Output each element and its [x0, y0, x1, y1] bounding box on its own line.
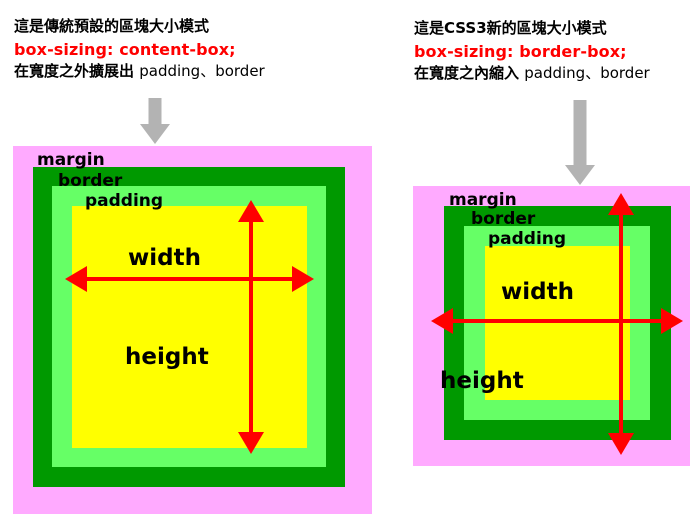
caption-left-line3-latin: padding、border: [139, 62, 264, 80]
padding-label: padding: [488, 231, 566, 248]
height-measure-arrow: [238, 200, 264, 454]
caption-right-line1: 這是CSS3新的區塊大小模式: [414, 18, 650, 40]
border-label: border: [471, 211, 535, 228]
width-measure-arrow: [431, 308, 683, 334]
flow-arrow-down-icon-left: [140, 98, 170, 144]
caption-content-box: 這是傳統預設的區塊大小模式 box-sizing: content-box; 在…: [14, 16, 265, 83]
height-arrowhead-down: [238, 432, 264, 454]
height-arrowhead-up: [608, 193, 634, 215]
height-arrow-line: [619, 207, 623, 441]
width-label: width: [501, 281, 574, 304]
width-arrow-line: [445, 319, 669, 323]
caption-right-code: box-sizing: border-box;: [414, 40, 650, 63]
width-arrowhead-right: [661, 308, 683, 334]
width-arrowhead-left: [431, 308, 453, 334]
width-label: width: [128, 247, 201, 270]
content-layer: [72, 206, 307, 448]
flow-arrow-head: [140, 124, 170, 144]
width-arrowhead-left: [65, 266, 87, 292]
caption-left-line3-cjk: 在寬度之外擴展出: [14, 62, 134, 80]
caption-left-line3: 在寬度之外擴展出 padding、border: [14, 61, 265, 83]
box-model-diagram-content-box: margin border padding width height: [13, 146, 372, 514]
margin-label: margin: [449, 192, 517, 209]
height-measure-arrow: [608, 193, 634, 455]
border-label: border: [58, 173, 122, 190]
height-arrow-line: [249, 214, 253, 440]
caption-left-code: box-sizing: content-box;: [14, 38, 265, 61]
flow-arrow-head: [565, 165, 595, 185]
caption-right-line3: 在寬度之內縮入 padding、border: [414, 63, 650, 85]
margin-label: margin: [37, 152, 105, 169]
padding-label: padding: [85, 193, 163, 210]
height-label: height: [440, 370, 524, 393]
flow-arrow-shaft: [574, 100, 587, 166]
box-model-diagram-border-box: margin border padding width height: [413, 186, 690, 466]
height-arrowhead-down: [608, 433, 634, 455]
caption-border-box: 這是CSS3新的區塊大小模式 box-sizing: border-box; 在…: [414, 18, 650, 85]
caption-right-line3-latin: padding、border: [524, 64, 649, 82]
height-label: height: [125, 346, 209, 369]
width-arrow-line: [79, 277, 300, 281]
width-arrowhead-right: [292, 266, 314, 292]
flow-arrow-shaft: [149, 98, 162, 125]
flow-arrow-down-icon-right: [565, 100, 595, 186]
height-arrowhead-up: [238, 200, 264, 222]
caption-right-line3-cjk: 在寬度之內縮入: [414, 64, 519, 82]
caption-left-line1: 這是傳統預設的區塊大小模式: [14, 16, 265, 38]
